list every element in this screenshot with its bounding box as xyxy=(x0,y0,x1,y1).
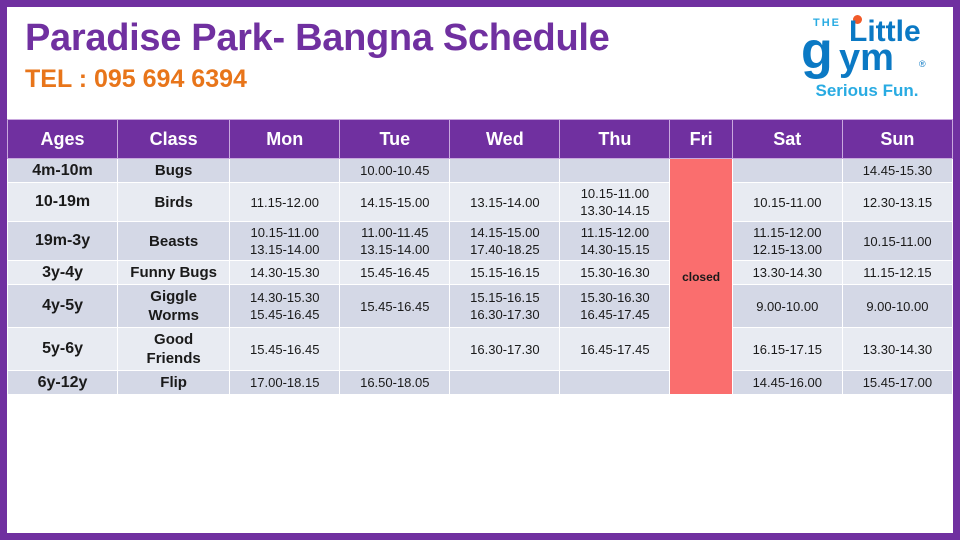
logo-g-letter: g xyxy=(801,25,833,77)
cell-wed: 14.15-15.0017.40-18.25 xyxy=(450,222,560,261)
registered-trademark-icon: ® xyxy=(919,59,926,69)
cell-ages: 10-19m xyxy=(8,183,118,222)
column-header-sun: Sun xyxy=(842,120,952,159)
table-row: 10-19mBirds11.15-12.0014.15-15.0013.15-1… xyxy=(8,183,953,222)
cell-sat: 10.15-11.00 xyxy=(732,183,842,222)
table-row: 4y-5yGiggleWorms14.30-15.3015.45-16.4515… xyxy=(8,285,953,328)
cell-sat: 13.30-14.30 xyxy=(732,261,842,285)
cell-tue xyxy=(340,328,450,371)
cell-wed xyxy=(450,159,560,183)
cell-ages: 6y-12y xyxy=(8,371,118,395)
cell-mon: 10.15-11.0013.15-14.00 xyxy=(230,222,340,261)
column-header-fri: Fri xyxy=(670,120,732,159)
cell-ages: 5y-6y xyxy=(8,328,118,371)
cell-sun: 12.30-13.15 xyxy=(842,183,952,222)
cell-mon: 14.30-15.3015.45-16.45 xyxy=(230,285,340,328)
cell-class: GoodFriends xyxy=(118,328,230,371)
cell-wed: 15.15-16.1516.30-17.30 xyxy=(450,285,560,328)
column-header-wed: Wed xyxy=(450,120,560,159)
column-header-mon: Mon xyxy=(230,120,340,159)
table-row: 4m-10mBugs10.00-10.45closed14.45-15.30 xyxy=(8,159,953,183)
cell-tue: 15.45-16.45 xyxy=(340,261,450,285)
column-header-class: Class xyxy=(118,120,230,159)
cell-thu: 16.45-17.45 xyxy=(560,328,670,371)
cell-class: Flip xyxy=(118,371,230,395)
schedule-poster: Paradise Park- Bangna Schedule TEL : 095… xyxy=(0,0,960,540)
table-row: 5y-6yGoodFriends15.45-16.4516.30-17.3016… xyxy=(8,328,953,371)
cell-thu: 11.15-12.0014.30-15.15 xyxy=(560,222,670,261)
cell-ages: 4m-10m xyxy=(8,159,118,183)
cell-wed: 13.15-14.00 xyxy=(450,183,560,222)
schedule-body: 4m-10mBugs10.00-10.45closed14.45-15.3010… xyxy=(8,159,953,395)
cell-sat: 9.00-10.00 xyxy=(732,285,842,328)
cell-ages: 4y-5y xyxy=(8,285,118,328)
cell-sun: 13.30-14.30 xyxy=(842,328,952,371)
logo-tagline: Serious Fun. xyxy=(797,81,937,101)
cell-fri-closed: closed xyxy=(670,159,732,395)
cell-mon: 11.15-12.00 xyxy=(230,183,340,222)
cell-mon xyxy=(230,159,340,183)
cell-sat: 14.45-16.00 xyxy=(732,371,842,395)
cell-sun: 10.15-11.00 xyxy=(842,222,952,261)
cell-sun: 14.45-15.30 xyxy=(842,159,952,183)
table-row: 19m-3yBeasts10.15-11.0013.15-14.0011.00-… xyxy=(8,222,953,261)
cell-wed xyxy=(450,371,560,395)
cell-class: Funny Bugs xyxy=(118,261,230,285)
column-header-ages: Ages xyxy=(8,120,118,159)
cell-tue: 10.00-10.45 xyxy=(340,159,450,183)
column-header-sat: Sat xyxy=(732,120,842,159)
cell-tue: 15.45-16.45 xyxy=(340,285,450,328)
cell-mon: 14.30-15.30 xyxy=(230,261,340,285)
table-row: 6y-12yFlip17.00-18.1516.50-18.0514.45-16… xyxy=(8,371,953,395)
cell-ages: 19m-3y xyxy=(8,222,118,261)
cell-tue: 11.00-11.4513.15-14.00 xyxy=(340,222,450,261)
table-header-row: Ages Class Mon Tue Wed Thu Fri Sat Sun xyxy=(8,120,953,159)
cell-class: Bugs xyxy=(118,159,230,183)
cell-sun: 9.00-10.00 xyxy=(842,285,952,328)
cell-thu xyxy=(560,371,670,395)
cell-class: Beasts xyxy=(118,222,230,261)
cell-sat: 16.15-17.15 xyxy=(732,328,842,371)
poster-header: Paradise Park- Bangna Schedule TEL : 095… xyxy=(7,7,953,119)
cell-sat xyxy=(732,159,842,183)
cell-thu: 15.30-16.3016.45-17.45 xyxy=(560,285,670,328)
cell-tue: 14.15-15.00 xyxy=(340,183,450,222)
logo-wordmark: THE g Little ym ® xyxy=(787,15,937,79)
cell-tue: 16.50-18.05 xyxy=(340,371,450,395)
cell-thu xyxy=(560,159,670,183)
cell-thu: 15.30-16.30 xyxy=(560,261,670,285)
cell-wed: 16.30-17.30 xyxy=(450,328,560,371)
cell-sun: 15.45-17.00 xyxy=(842,371,952,395)
cell-thu: 10.15-11.0013.30-14.15 xyxy=(560,183,670,222)
cell-sun: 11.15-12.15 xyxy=(842,261,952,285)
cell-mon: 15.45-16.45 xyxy=(230,328,340,371)
cell-mon: 17.00-18.15 xyxy=(230,371,340,395)
table-row: 3y-4yFunny Bugs14.30-15.3015.45-16.4515.… xyxy=(8,261,953,285)
cell-ages: 3y-4y xyxy=(8,261,118,285)
cell-wed: 15.15-16.15 xyxy=(450,261,560,285)
little-gym-logo: THE g Little ym ® Serious Fun. xyxy=(787,15,937,111)
cell-class: Birds xyxy=(118,183,230,222)
cell-class: GiggleWorms xyxy=(118,285,230,328)
column-header-thu: Thu xyxy=(560,120,670,159)
logo-ym-text: ym xyxy=(839,39,894,77)
cell-sat: 11.15-12.0012.15-13.00 xyxy=(732,222,842,261)
class-schedule-table: Ages Class Mon Tue Wed Thu Fri Sat Sun 4… xyxy=(7,119,953,395)
column-header-tue: Tue xyxy=(340,120,450,159)
